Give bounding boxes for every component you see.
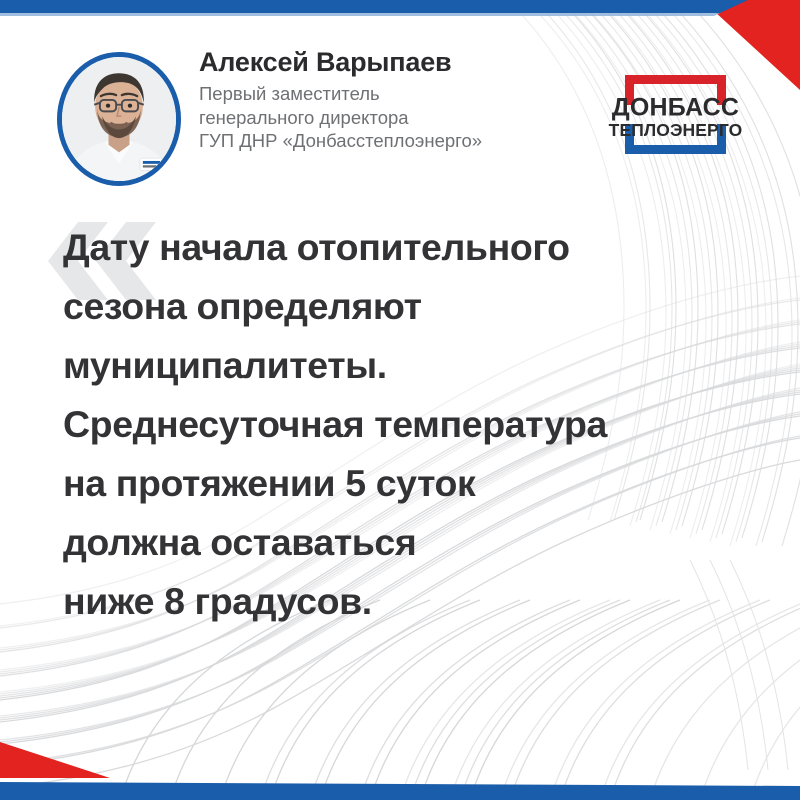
quote-line-2: сезона определяют	[63, 277, 770, 336]
speaker-info: Алексей Варыпаев Первый заместитель гене…	[199, 45, 599, 153]
quote-line-7: ниже 8 градусов.	[63, 572, 770, 631]
logo-line-1-text: ДОНБАСС	[612, 94, 739, 122]
speaker-header: Алексей Варыпаев Первый заместитель гене…	[0, 45, 800, 190]
donbassteploenergo-logo: ДОНБАСС ТЕПЛОЭНЕРГО	[594, 57, 757, 172]
bottom-left-red-corner	[0, 720, 330, 800]
speaker-role-line-3: ГУП ДНР «Донбасстеплоэнерго»	[199, 129, 599, 153]
quote-block: Дату начала отопительного сезона определ…	[0, 218, 800, 631]
quote-line-5: на протяжении 5 суток	[63, 454, 770, 513]
quote-card: Алексей Варыпаев Первый заместитель гене…	[0, 0, 800, 800]
quote-line-3: муниципалитеты.	[63, 336, 770, 395]
quote-line-1: Дату начала отопительного	[63, 218, 770, 277]
logo-line-2-text: ТЕПЛОЭНЕРГО	[609, 120, 743, 140]
avatar	[57, 52, 181, 186]
quote-line-4: Среднесуточная температура	[63, 395, 770, 454]
speaker-role-line-1: Первый заместитель	[199, 82, 599, 106]
quote-text: Дату начала отопительного сезона определ…	[0, 218, 800, 631]
speaker-name: Алексей Варыпаев	[199, 45, 599, 79]
bottom-blue-bar	[0, 776, 800, 800]
quote-line-6: должна оставаться	[63, 513, 770, 572]
top-blue-bar	[0, 0, 800, 40]
speaker-role-line-2: генерального директора	[199, 106, 599, 130]
